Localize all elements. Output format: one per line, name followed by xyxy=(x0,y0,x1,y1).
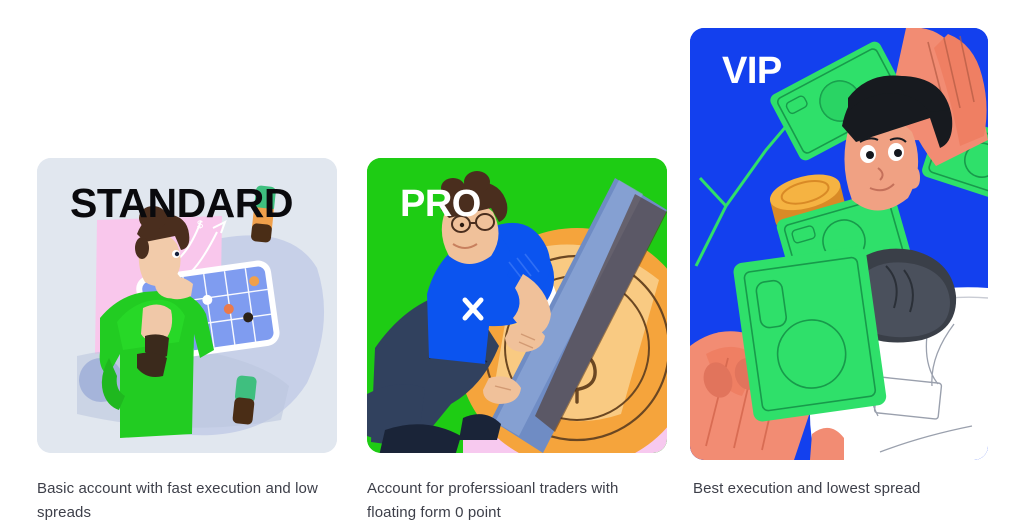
plan-caption-vip: Best execution and lowest spread xyxy=(693,477,993,501)
plan-title-vip: VIP xyxy=(722,52,782,90)
plan-caption-standard: Basic account with fast execution and lo… xyxy=(37,477,327,525)
plan-title-standard: STANDARD xyxy=(70,183,293,224)
plan-illustration-vip xyxy=(690,28,988,460)
account-plans-row: $ xyxy=(0,0,1024,521)
plan-title-pro: PRO xyxy=(400,185,481,223)
plan-caption-pro: Account for proferssioanl traders with f… xyxy=(367,477,657,525)
vip-illustration-svg xyxy=(690,28,988,460)
